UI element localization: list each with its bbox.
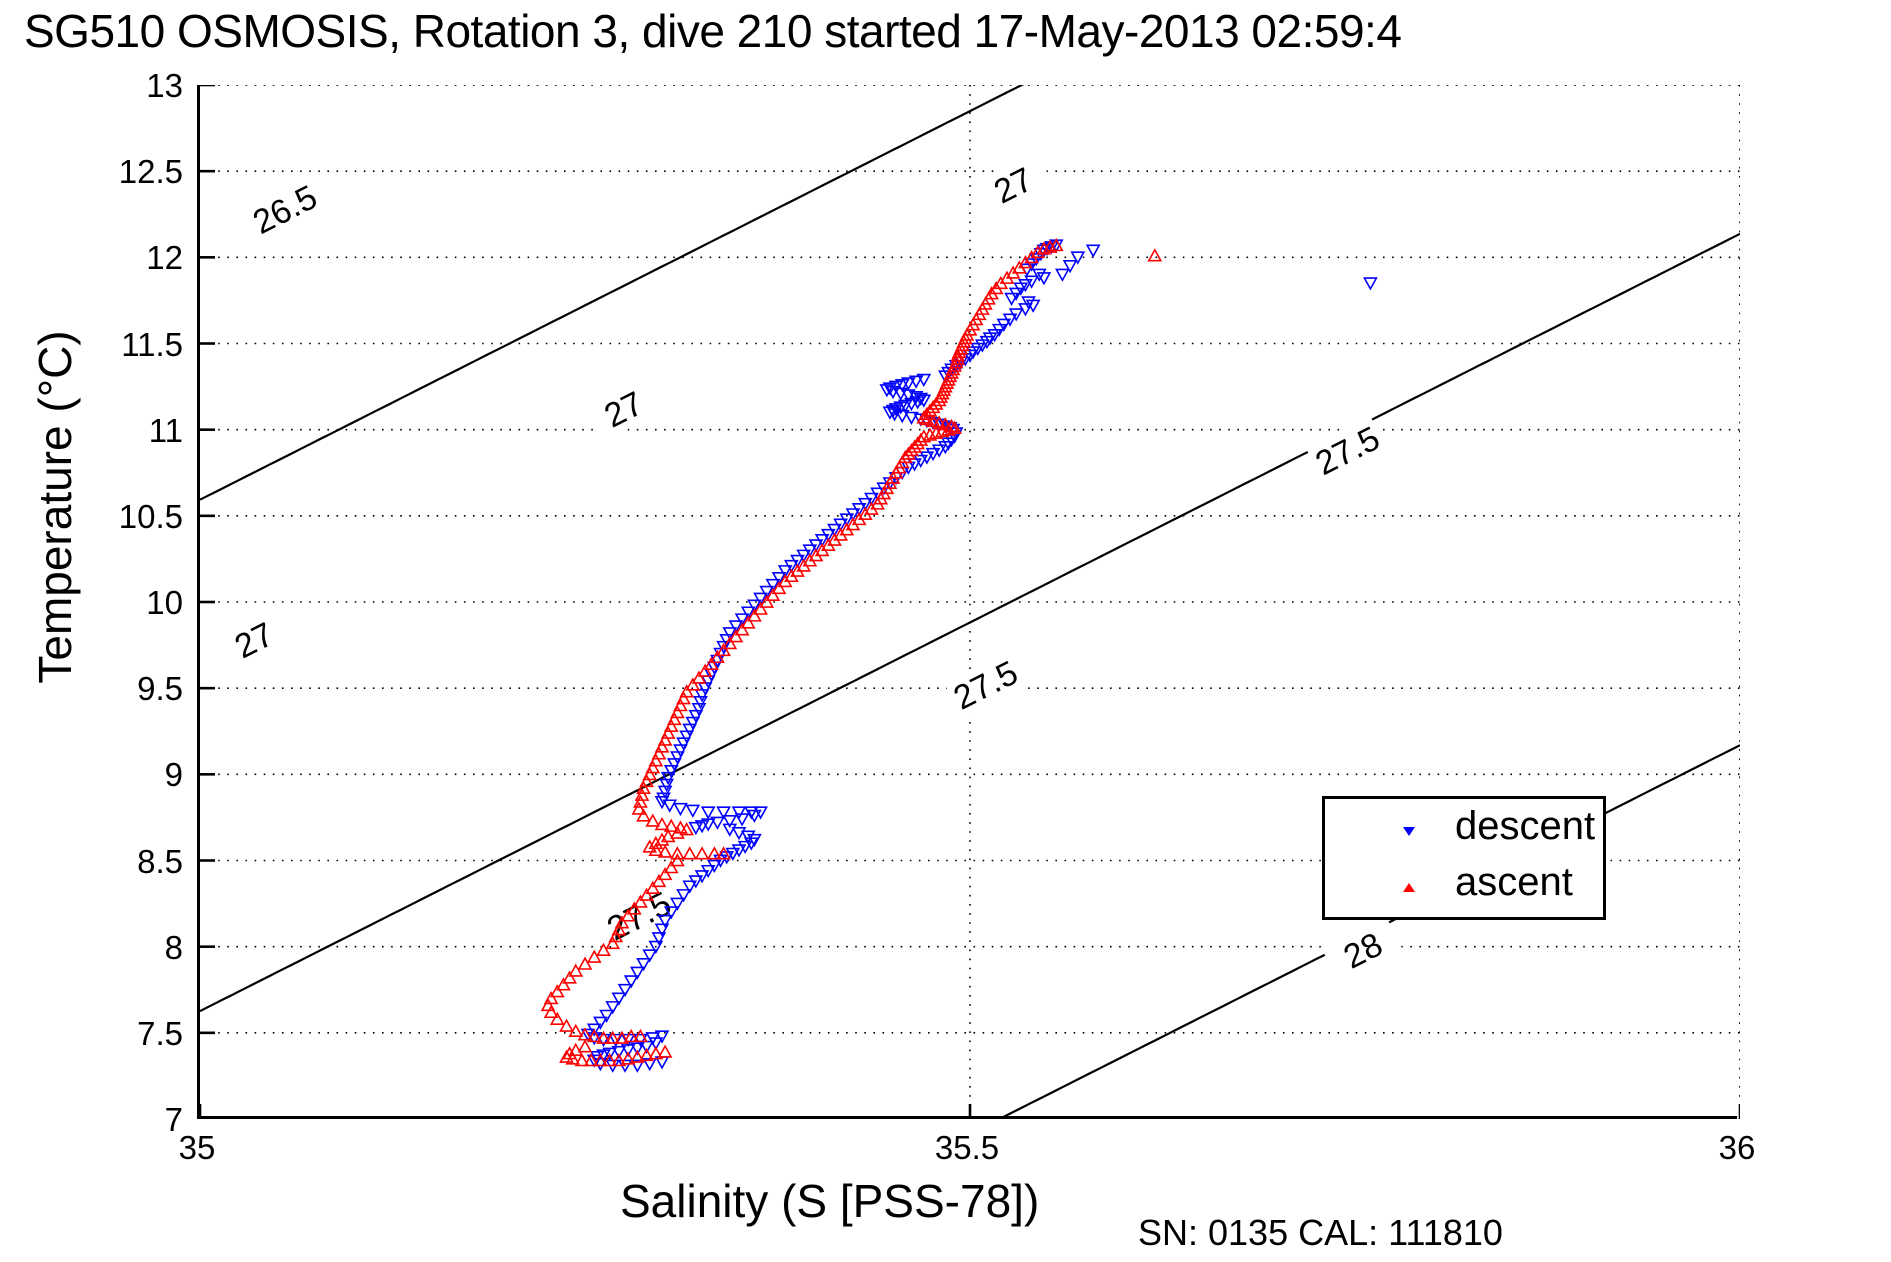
y-tick-11: 11 xyxy=(149,412,183,450)
x-tick-36: 36 xyxy=(1677,1129,1797,1167)
plot-canvas: 26.527272727.527.527.528 xyxy=(200,85,1740,1119)
legend-label-descent: descent xyxy=(1455,804,1595,849)
legend[interactable]: descent ascent xyxy=(1322,796,1606,920)
legend-item-descent[interactable]: descent xyxy=(1325,805,1603,855)
x-tick-35: 35 xyxy=(137,1129,257,1167)
y-tick-9: 9 xyxy=(165,756,183,794)
y-tick-11.5: 11.5 xyxy=(121,326,183,364)
legend-item-ascent[interactable]: ascent xyxy=(1325,861,1603,911)
y-tick-12: 12 xyxy=(146,239,183,277)
x-axis-label: Salinity (S [PSS-78]) xyxy=(620,1174,1039,1228)
scatter-data xyxy=(542,240,1376,1072)
grid-lines xyxy=(200,85,1740,1119)
y-tick-12.5: 12.5 xyxy=(119,153,183,191)
serial-cal-footnote: SN: 0135 CAL: 111810 xyxy=(1138,1212,1503,1254)
y-tick-9.5: 9.5 xyxy=(137,670,183,708)
triangle-up-icon xyxy=(1403,883,1415,892)
series-ascent xyxy=(542,240,1161,1066)
triangle-down-icon xyxy=(1403,827,1415,836)
y-tick-8.5: 8.5 xyxy=(137,843,183,881)
y-tick-10.5: 10.5 xyxy=(119,498,183,536)
y-tick-8: 8 xyxy=(165,929,183,967)
plot-area: 26.527272727.527.527.528 descent ascent xyxy=(197,85,1737,1119)
figure-root: SG510 OSMOSIS, Rotation 3, dive 210 star… xyxy=(0,0,1891,1262)
y-axis-label: Temperature (°C) xyxy=(28,227,82,787)
x-tick-35.5: 35.5 xyxy=(907,1129,1027,1167)
figure-title: SG510 OSMOSIS, Rotation 3, dive 210 star… xyxy=(24,2,1891,60)
legend-label-ascent: ascent xyxy=(1455,860,1573,905)
y-tick-7.5: 7.5 xyxy=(137,1015,183,1053)
y-tick-10: 10 xyxy=(146,584,183,622)
y-tick-13: 13 xyxy=(146,67,183,105)
